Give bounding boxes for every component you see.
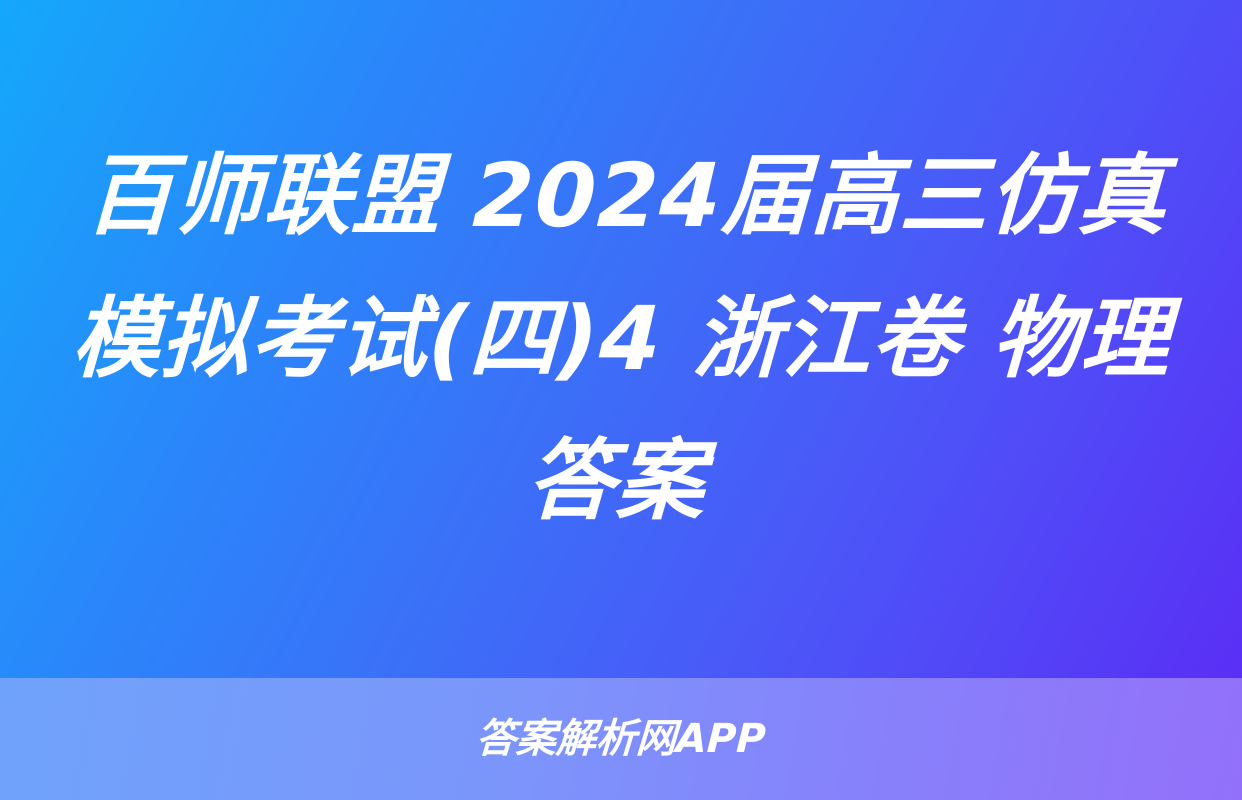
page-title: 百师联盟 2024届高三仿真模拟考试(四)4 浙江卷 物理答案 bbox=[61, 125, 1182, 553]
title-block: 百师联盟 2024届高三仿真模拟考试(四)4 浙江卷 物理答案 bbox=[0, 0, 1242, 678]
app-watermark-label: 答案解析网APP bbox=[475, 719, 767, 759]
poster-canvas: 百师联盟 2024届高三仿真模拟考试(四)4 浙江卷 物理答案 答案解析网APP bbox=[0, 0, 1242, 800]
footer-watermark-band: 答案解析网APP bbox=[0, 678, 1242, 800]
